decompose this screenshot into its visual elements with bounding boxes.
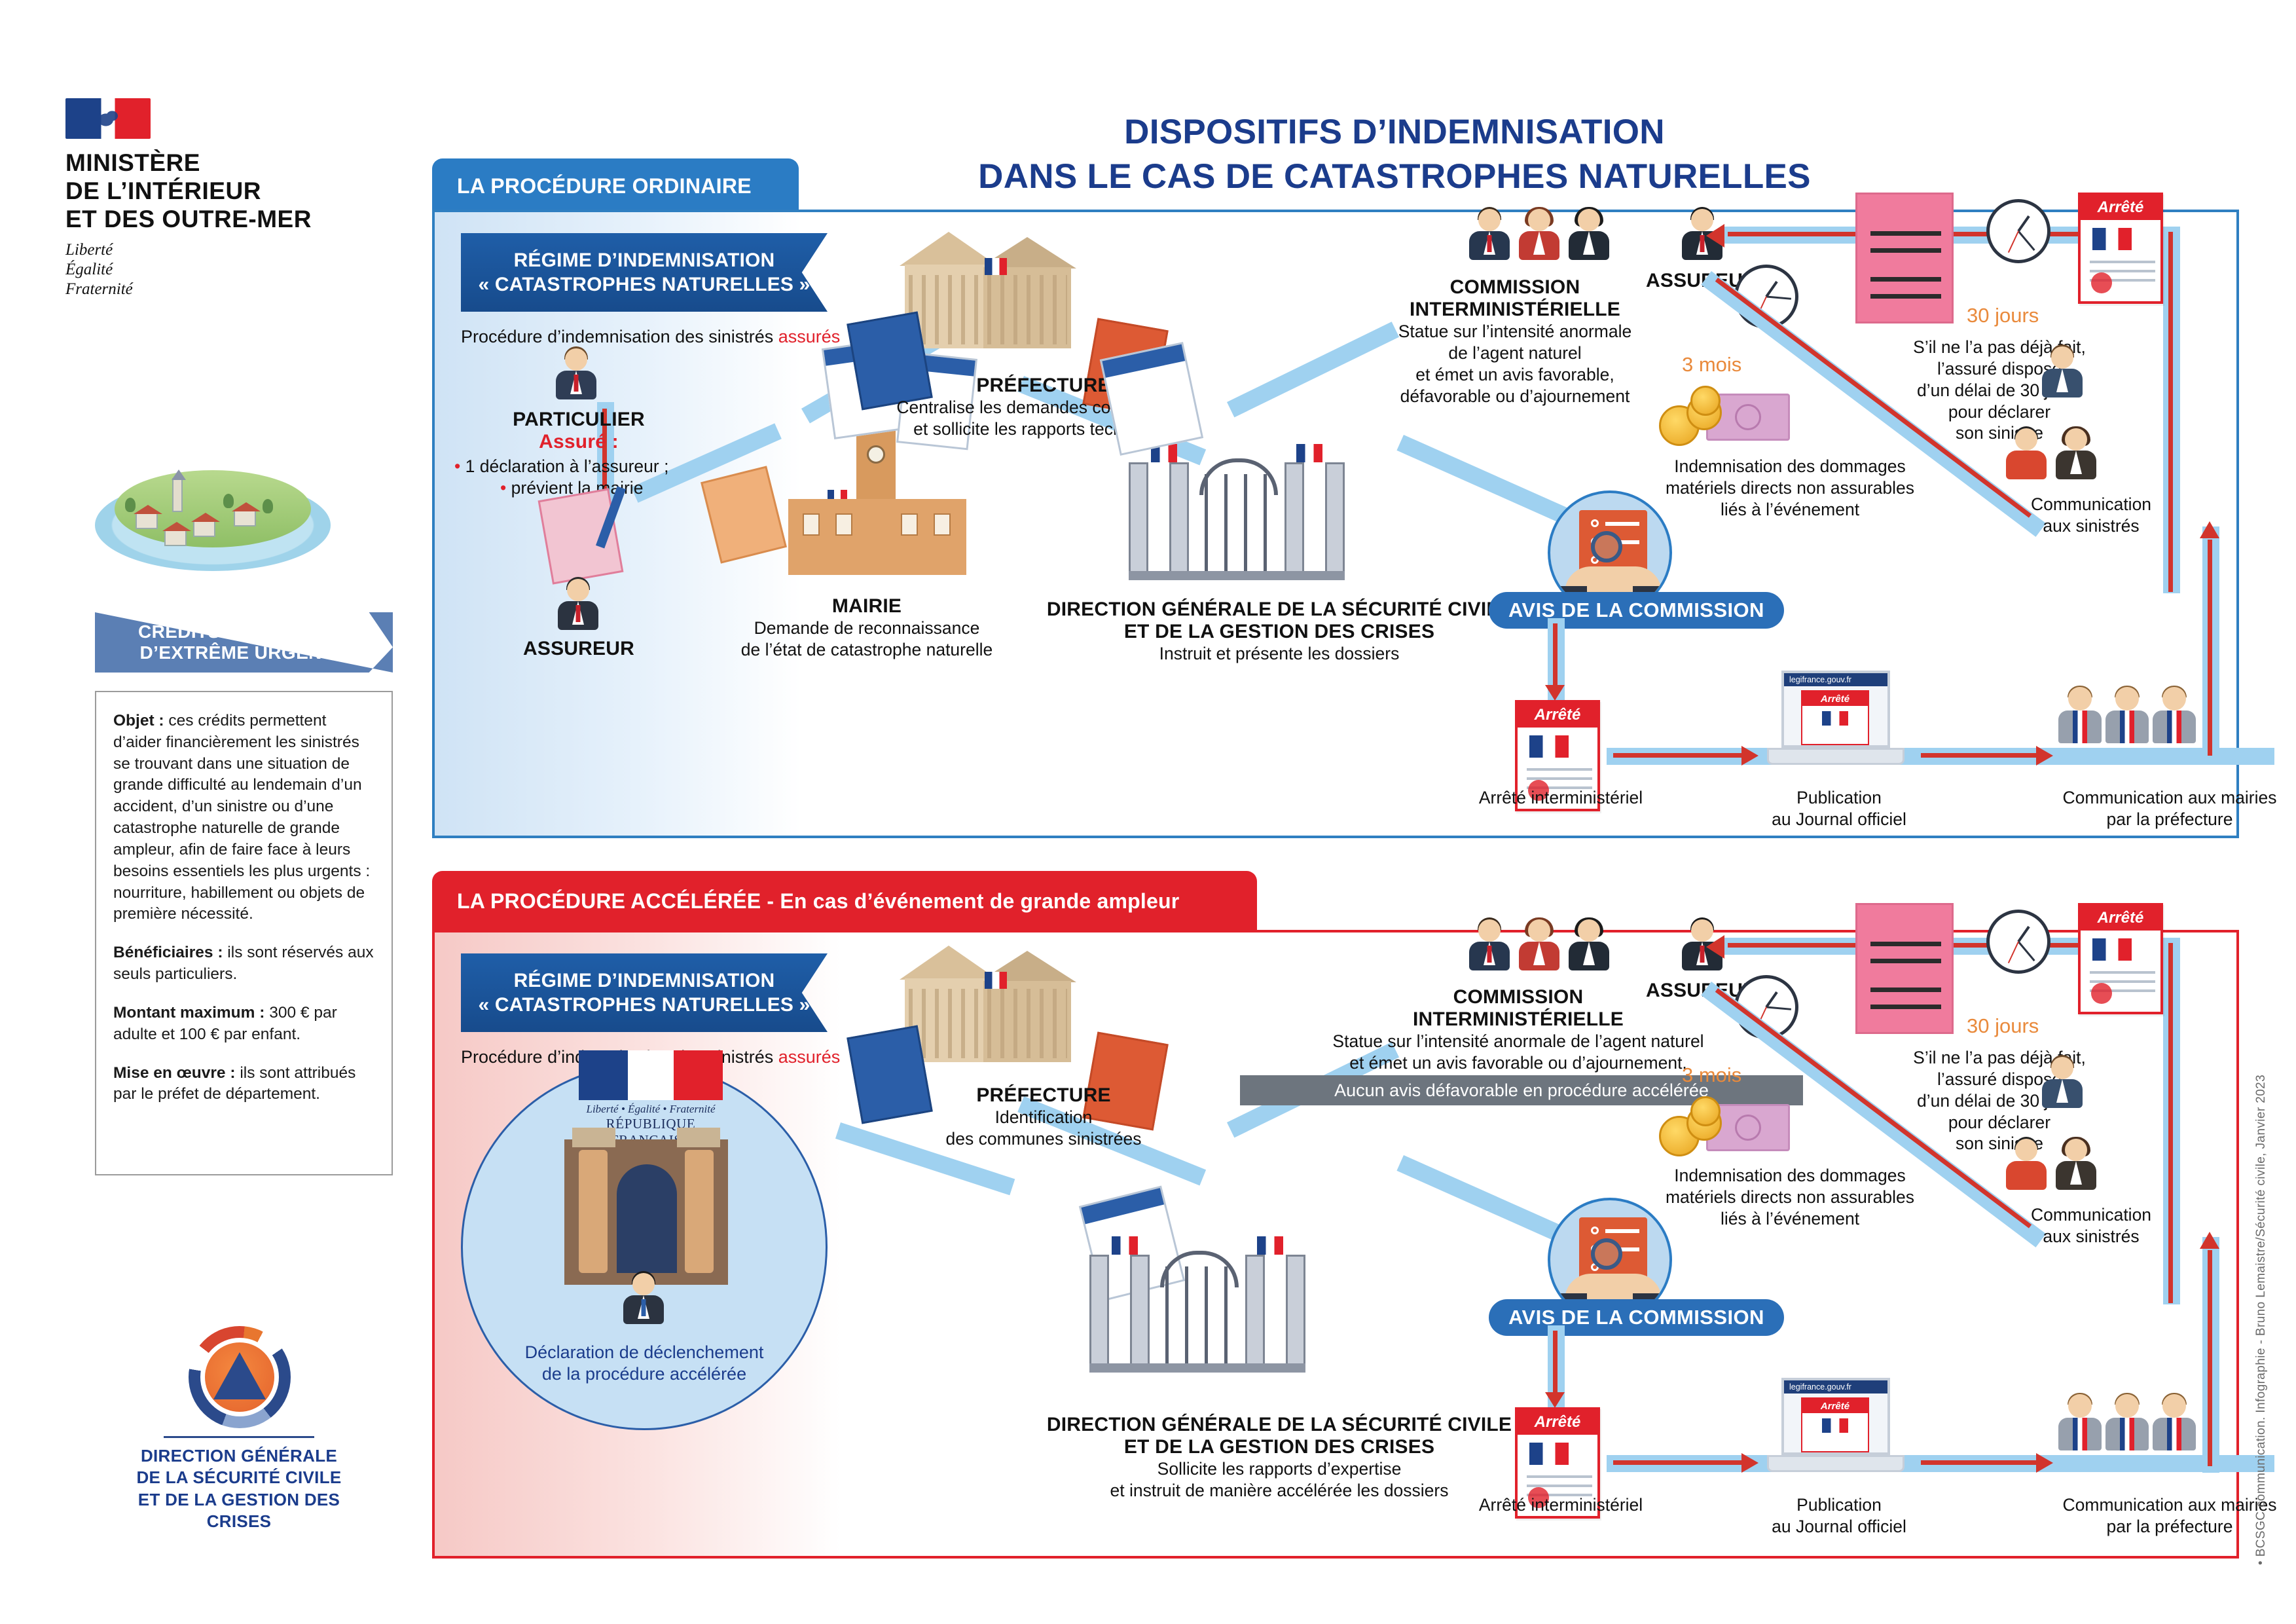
particulier-bullet-1-text: 1 déclaration à l’assureur ; [465, 456, 669, 476]
indemn-text-3: liés à l’événement [1607, 1208, 1973, 1230]
arrete-card-label: Arrêté [2081, 906, 2160, 931]
avis-commission-badge-panel1: AVIS DE LA COMMISSION [1489, 592, 1784, 629]
legifrance-laptop-panel2: legifrance.gouv.fr Arrêté [1767, 1378, 1904, 1483]
regime-banner-ordinaire: RÉGIME D’INDEMNISATION « CATASTROPHES NA… [461, 233, 828, 312]
credits-block-objet: Objet : ces crédits permettent d’aider f… [113, 710, 374, 925]
delay-text-2: l’assuré dispose [1855, 1069, 2143, 1090]
arrete-card-panel1: Arrêté [2078, 193, 2163, 304]
flow-arrowhead [1706, 935, 1724, 959]
dgscgc-title-line2: ET DE LA GESTION DES CRISES [1024, 621, 1535, 643]
assureur-avatar-left [558, 579, 598, 629]
comm-sinistres-line1: Communication [1954, 494, 2229, 515]
panel-procedure-ordinaire: RÉGIME D’INDEMNISATION « CATASTROPHES NA… [432, 210, 2239, 838]
rf-motto: Liberté • Égalité • Fraternité [579, 1103, 723, 1116]
credits-info-box: Objet : ces crédits permettent d’aider f… [95, 691, 393, 1175]
commission-title-line2: INTERMINISTÉRIELLE [1299, 299, 1731, 321]
flow-arrowhead [2036, 746, 2053, 766]
communication-mairies-panel2: Communication aux mairies par la préfect… [1960, 1494, 2296, 1538]
credit-line: • BCSGC communication. Infographie - Bru… [2254, 936, 2276, 1565]
delay-text-3: d’un délai de 30 jours [1855, 1090, 2143, 1112]
panel-procedure-acceleree: RÉGIME D’INDEMNISATION « CATASTROPHES NA… [432, 930, 2239, 1559]
avis-commission-badge-label: AVIS DE LA COMMISSION [1508, 599, 1764, 622]
money-icon-panel1 [1659, 379, 1790, 451]
sinistre-avatar [2006, 1139, 2047, 1189]
flow-arrow [2168, 943, 2173, 1303]
commission-subtitle-1: Statue sur l’intensité anormale [1299, 321, 1731, 342]
dgscgc-gate-illustration [1129, 454, 1345, 592]
particulier-title: PARTICULIER [448, 409, 710, 431]
commission-member-avatar [1569, 919, 1609, 969]
indemnisation-text-panel2: Indemnisation des dommages matériels dir… [1607, 1165, 1973, 1230]
arrete-card-label: Arrêté [2081, 195, 2160, 220]
commission-members-avatars [1469, 209, 1609, 259]
flow-arrowhead [2200, 1232, 2219, 1249]
commission-highlight-label: Aucun avis défavorable en procédure accé… [1334, 1080, 1709, 1101]
credits-banner-line1: CRÉDITS DE SECOURS [138, 621, 350, 642]
comm-sinistres-line2: aux sinistrés [1954, 515, 2229, 537]
magnifier-icon [1591, 1238, 1622, 1270]
commission-member-avatar [1569, 209, 1609, 259]
particulier-bullet-1: • 1 déclaration à l’assureur ; [448, 456, 710, 477]
delay-text-3: d’un délai de 30 jours [1855, 380, 2143, 401]
house-icon [193, 520, 215, 537]
legifrance-laptop-panel1: legifrance.gouv.fr Arrêté [1767, 671, 1904, 775]
arrete-card-label: Arrêté [1802, 692, 1868, 706]
mairie-subtitle-2: de l’état de catastrophe naturelle [683, 639, 1050, 661]
avis-commission-badge-label: AVIS DE LA COMMISSION [1508, 1306, 1764, 1329]
indemn-text-2: matériels directs non assurables [1607, 1187, 1973, 1208]
comm-sinistres-line1: Communication [1954, 1204, 2229, 1226]
intro-highlight: assurés [778, 1047, 841, 1067]
declaration-line2: de la procédure accélérée [474, 1363, 814, 1385]
flow-arrowhead [1545, 1392, 1565, 1408]
flow-arrow [2208, 540, 2212, 756]
comm-mairies-line1: Communication aux mairies [1960, 787, 2296, 809]
dgscgc-block-panel1: DIRECTION GÉNÉRALE DE LA SÉCURITÉ CIVILE… [1024, 599, 1535, 665]
magnifier-icon [1591, 531, 1622, 563]
publication-line1: Publication [1708, 787, 1970, 809]
claim-document-icon [1855, 193, 1954, 323]
arrete-card-label: Arrêté [1518, 1410, 1597, 1435]
indemn-text-2: matériels directs non assurables [1607, 477, 1973, 499]
regime-banner-acceleree: RÉGIME D’INDEMNISATION « CATASTROPHES NA… [461, 953, 828, 1032]
comm-sinistres-line2: aux sinistrés [1954, 1226, 2229, 1247]
dgscgc-title-line2-panel2: ET DE LA GESTION DES CRISES [985, 1436, 1574, 1458]
motto-liberte: Liberté [65, 240, 406, 260]
motto-fraternite: Fraternité [65, 280, 406, 299]
duration-3-mois-panel2: 3 mois [1682, 1063, 1741, 1087]
regime-banner-line2: « CATASTROPHES NATURELLES » [478, 993, 810, 1018]
comm-mairies-line2: par la préfecture [1960, 1516, 2296, 1538]
sinistre-avatar [2056, 428, 2096, 478]
prefecture-subtitle-1-panel2: Identification [841, 1107, 1247, 1128]
publication-label-panel2: Publication au Journal officiel [1708, 1494, 1970, 1538]
clock-icon-30j [1986, 199, 2050, 263]
commission-member-avatar [1519, 919, 1559, 969]
delay-text-2: l’assuré dispose [1855, 358, 2143, 380]
credits-label-objet: Objet : [113, 712, 164, 729]
mairie-title: MAIRIE [683, 595, 1050, 618]
dgscgc-line1: DIRECTION GÉNÉRALE [130, 1445, 348, 1467]
intro-line-ordinaire: Procédure d’indemnisation des sinistrés … [461, 327, 840, 347]
dgscgc-subtitle-1-panel2: Sollicite les rapports d’expertise [985, 1458, 1574, 1480]
particulier-avatar [556, 348, 596, 398]
publication-line2: au Journal officiel [1708, 809, 1970, 830]
dgscgc-gate-illustration-panel2 [1089, 1247, 1305, 1384]
commission-subtitle-1-panel2: Statue sur l’intensité anormale de l’age… [1214, 1031, 1823, 1052]
credits-block-montant: Montant maximum : 300 € par adulte et 10… [113, 1003, 374, 1046]
flow-arrowhead [1545, 685, 1565, 701]
commission-member-avatar [1519, 209, 1559, 259]
dgscgc-subtitle: Instruit et présente les dossiers [1024, 643, 1535, 665]
commission-member-avatar [1469, 919, 1510, 969]
clock-icon-30j-panel2 [1986, 910, 2050, 974]
communication-sinistres-panel1: Communication aux sinistrés [1954, 494, 2229, 537]
credits-block-mise-en-oeuvre: Mise en œuvre : ils sont attribués par l… [113, 1063, 374, 1106]
mayor-avatar [2153, 1394, 2196, 1450]
ministry-name-line1: MINISTÈRE [65, 149, 406, 177]
arrete-interministeriel-label-panel1: Arrêté interministériel [1436, 787, 1685, 809]
duration-3-mois-panel1: 3 mois [1682, 353, 1741, 377]
arrete-card-panel2: Arrêté [2078, 903, 2163, 1014]
tab-procedure-acceleree-label: LA PROCÉDURE ACCÉLÉRÉE - En cas d’événem… [457, 889, 1179, 913]
prefet-avatar [623, 1273, 664, 1323]
duration-30-jours-panel2: 30 jours [1967, 1014, 2039, 1038]
prefecture-title-panel2: PRÉFECTURE [841, 1084, 1247, 1107]
credits-banner-line2: D’EXTRÊME URGENCE [138, 642, 350, 663]
flow-arrowhead [1741, 746, 1758, 766]
flow-band [1396, 1155, 1571, 1246]
sinistre-avatar-panel2 [2042, 1057, 2083, 1107]
republic-motto: Liberté Égalité Fraternité [65, 240, 406, 299]
assureur-label-left: ASSUREUR [474, 638, 683, 660]
marianne-flag-icon [65, 98, 151, 139]
flow-arrowhead [2200, 521, 2219, 538]
mayor-avatar [2105, 1394, 2149, 1450]
commission-member-avatar [1469, 209, 1510, 259]
ministry-name-line2: DE L’INTÉRIEUR [65, 177, 406, 206]
mairie-subtitle-1: Demande de reconnaissance [683, 618, 1050, 639]
sinistres-avatars [2006, 428, 2096, 478]
infographic-page: MINISTÈRE DE L’INTÉRIEUR ET DES OUTRE-ME… [0, 0, 2296, 1624]
prefecture-building-illustration [893, 232, 1089, 356]
house-icon [164, 529, 187, 546]
church-tower-icon [172, 478, 183, 512]
avis-commission-badge-panel2: AVIS DE LA COMMISSION [1489, 1299, 1784, 1336]
mayor-avatar [2153, 687, 2196, 743]
flow-arrow [1921, 1460, 2039, 1465]
arrete-card-label: Arrêté [1802, 1399, 1868, 1413]
motto-egalite: Égalité [65, 260, 406, 280]
comm-mairies-line2: par la préfecture [1960, 809, 2296, 830]
flow-arrow [1553, 623, 1558, 686]
credits-label-mise-en-oeuvre: Mise en œuvre : [113, 1064, 236, 1082]
rf-flag-icon [579, 1050, 723, 1100]
intro-prefix: Procédure d’indemnisation des sinistrés [461, 327, 778, 346]
dgscgc-logo-text: DIRECTION GÉNÉRALE DE LA SÉCURITÉ CIVILE… [130, 1445, 348, 1532]
declaration-line1: Déclaration de déclenchement [474, 1342, 814, 1363]
ministry-name-line3: ET DES OUTRE-MER [65, 206, 406, 234]
credits-banner: CRÉDITS DE SECOURS D’EXTRÊME URGENCE [95, 612, 393, 673]
publication-line2: au Journal officiel [1708, 1516, 1970, 1538]
sinistres-avatars-panel2 [2006, 1139, 2096, 1189]
sinistre-avatar [2056, 1139, 2096, 1189]
dgscgc-block-panel2: DIRECTION GÉNÉRALE DE LA SÉCURITÉ CIVILE… [985, 1414, 1574, 1502]
mairie-block: MAIRIE Demande de reconnaissance de l’ét… [683, 595, 1050, 661]
credits-block-beneficiaires: Bénéficiaires : ils sont réservés aux se… [113, 942, 374, 986]
commission-members-avatars-panel2 [1469, 919, 1609, 969]
ministry-name: MINISTÈRE DE L’INTÉRIEUR ET DES OUTRE-ME… [65, 149, 406, 234]
tab-procedure-ordinaire-label: LA PROCÉDURE ORDINAIRE [457, 174, 752, 198]
publication-label-panel1: Publication au Journal officiel [1708, 787, 1970, 830]
arrete-interministeriel-label-panel2: Arrêté interministériel [1436, 1494, 1685, 1516]
flow-arrow [1921, 753, 2039, 758]
money-icon-panel2 [1659, 1090, 1790, 1162]
flow-arrow [1613, 1460, 1744, 1465]
claim-document-icon-panel2 [1855, 903, 1954, 1034]
page-title-line2: DANS LE CAS DE CATASTROPHES NATURELLES [773, 155, 2016, 199]
indemn-text-1: Indemnisation des dommages [1607, 456, 1973, 477]
prefecture-subtitle-2-panel2: des communes sinistrées [841, 1128, 1247, 1150]
dgscgc-title-line1: DIRECTION GÉNÉRALE DE LA SÉCURITÉ CIVILE [1024, 599, 1535, 621]
mayor-avatar [2058, 1394, 2102, 1450]
legifrance-url: legifrance.gouv.fr [1784, 673, 1887, 686]
mayors-avatars-panel1 [2058, 687, 2196, 743]
flow-arrowhead [1741, 1453, 1758, 1473]
arrete-card-label: Arrêté [1518, 703, 1597, 728]
tree-icon [223, 494, 234, 508]
flow-arrow [2208, 1250, 2212, 1466]
tab-procedure-acceleree[interactable]: LA PROCÉDURE ACCÉLÉRÉE - En cas d’événem… [432, 871, 1257, 931]
publication-line1: Publication [1708, 1494, 1970, 1516]
flow-arrow [2168, 232, 2173, 592]
dgscgc-line2: DE LA SÉCURITÉ CIVILE [130, 1467, 348, 1488]
credits-text-objet: ces crédits permettent d’aider financièr… [113, 712, 370, 923]
flow-arrow [1553, 1331, 1558, 1393]
duration-30-jours-panel1: 30 jours [1967, 304, 2039, 327]
dgscgc-logo: DIRECTION GÉNÉRALE DE LA SÉCURITÉ CIVILE… [164, 1326, 314, 1457]
mayor-avatar [2105, 687, 2149, 743]
flow-arrow [1613, 753, 1744, 758]
divider [164, 1436, 314, 1438]
flow-arrowhead [1706, 224, 1724, 248]
dgscgc-line3: ET DE LA GESTION DES CRISES [130, 1489, 348, 1533]
declaration-caption: Déclaration de déclenchement de la procé… [474, 1342, 814, 1386]
indemn-text-1: Indemnisation des dommages [1607, 1165, 1973, 1187]
regime-banner-line1: RÉGIME D’INDEMNISATION [478, 969, 810, 993]
delay-text-1: S’il ne l’a pas déjà fait, [1855, 337, 2143, 358]
prefecture-building-illustration-panel2 [893, 946, 1089, 1070]
regime-banner-line2: « CATASTROPHES NATURELLES » [478, 272, 810, 297]
regime-banner-line1: RÉGIME D’INDEMNISATION [478, 248, 810, 273]
mayor-avatar [2058, 687, 2102, 743]
house-icon [234, 509, 256, 526]
dgscgc-title-line1-panel2: DIRECTION GÉNÉRALE DE LA SÉCURITÉ CIVILE [985, 1414, 1574, 1436]
credits-label-beneficiaires: Bénéficiaires : [113, 944, 223, 961]
particulier-subtitle: Assuré : [448, 431, 710, 453]
communication-sinistres-panel2: Communication aux sinistrés [1954, 1204, 2229, 1247]
page-title: DISPOSITIFS D’INDEMNISATION DANS LE CAS … [773, 110, 2016, 199]
mayors-avatars-panel2 [2058, 1394, 2196, 1450]
tab-procedure-ordinaire[interactable]: LA PROCÉDURE ORDINAIRE [432, 158, 799, 213]
house-icon [136, 512, 158, 529]
credits-label-montant: Montant maximum : [113, 1004, 264, 1022]
comm-mairies-line1: Communication aux mairies [1960, 1494, 2296, 1516]
indemnisation-text-panel1: Indemnisation des dommages matériels dir… [1607, 456, 1973, 521]
commission-subtitle-2: de l’agent naturel [1299, 342, 1731, 364]
sinistre-avatar [2042, 346, 2083, 396]
communication-mairies-panel1: Communication aux mairies par la préfect… [1960, 787, 2296, 830]
particulier-block: PARTICULIER Assuré : • 1 déclaration à l… [448, 409, 710, 499]
legifrance-url: legifrance.gouv.fr [1784, 1380, 1887, 1393]
page-title-line1: DISPOSITIFS D’INDEMNISATION [773, 110, 2016, 155]
indemn-text-3: liés à l’événement [1607, 499, 1973, 521]
prefecture-block-panel2: PRÉFECTURE Identification des communes s… [841, 1084, 1247, 1150]
ministry-branding: MINISTÈRE DE L’INTÉRIEUR ET DES OUTRE-ME… [65, 98, 406, 299]
tree-icon [263, 499, 273, 513]
intro-highlight: assurés [778, 327, 841, 346]
flooded-village-illustration [95, 452, 331, 576]
tree-icon [125, 498, 136, 512]
ministry-portal-illustration [564, 1128, 728, 1285]
flow-arrowhead [2036, 1453, 2053, 1473]
delay-text-1: S’il ne l’a pas déjà fait, [1855, 1047, 2143, 1069]
sinistre-avatar [2006, 428, 2047, 478]
flow-band [1396, 435, 1571, 525]
